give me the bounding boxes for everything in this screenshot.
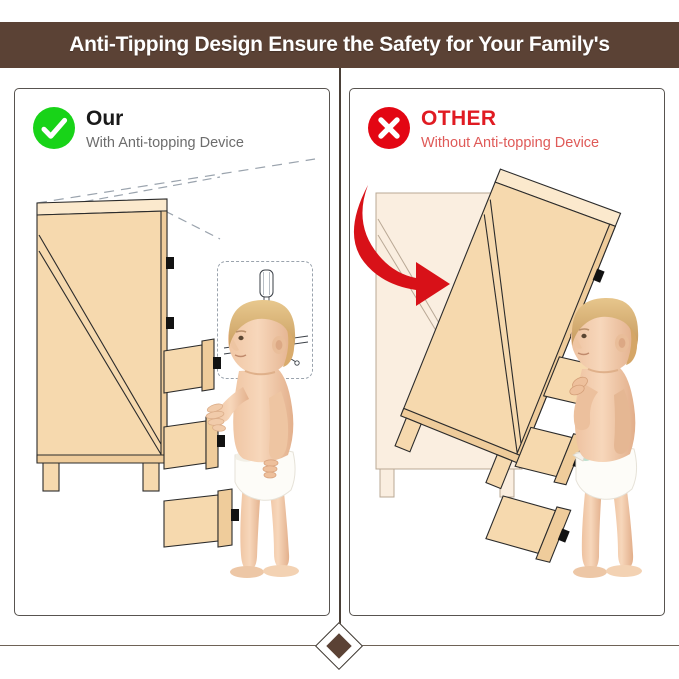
- vertical-divider: [339, 68, 341, 642]
- panel-other: OTHER Without Anti-topping Device: [349, 88, 665, 616]
- infographic-root: Anti-Tipping Design Ensure the Safety fo…: [0, 0, 679, 679]
- page-title: Anti-Tipping Design Ensure the Safety fo…: [69, 33, 609, 57]
- header-band: Anti-Tipping Design Ensure the Safety fo…: [0, 22, 679, 68]
- toddler-standing: [546, 287, 665, 587]
- panel-our: Our With Anti-topping Device: [14, 88, 330, 616]
- toddler-standing-reaching: [195, 287, 330, 587]
- ornament-color-value: #5b4235: [0, 0, 1, 1]
